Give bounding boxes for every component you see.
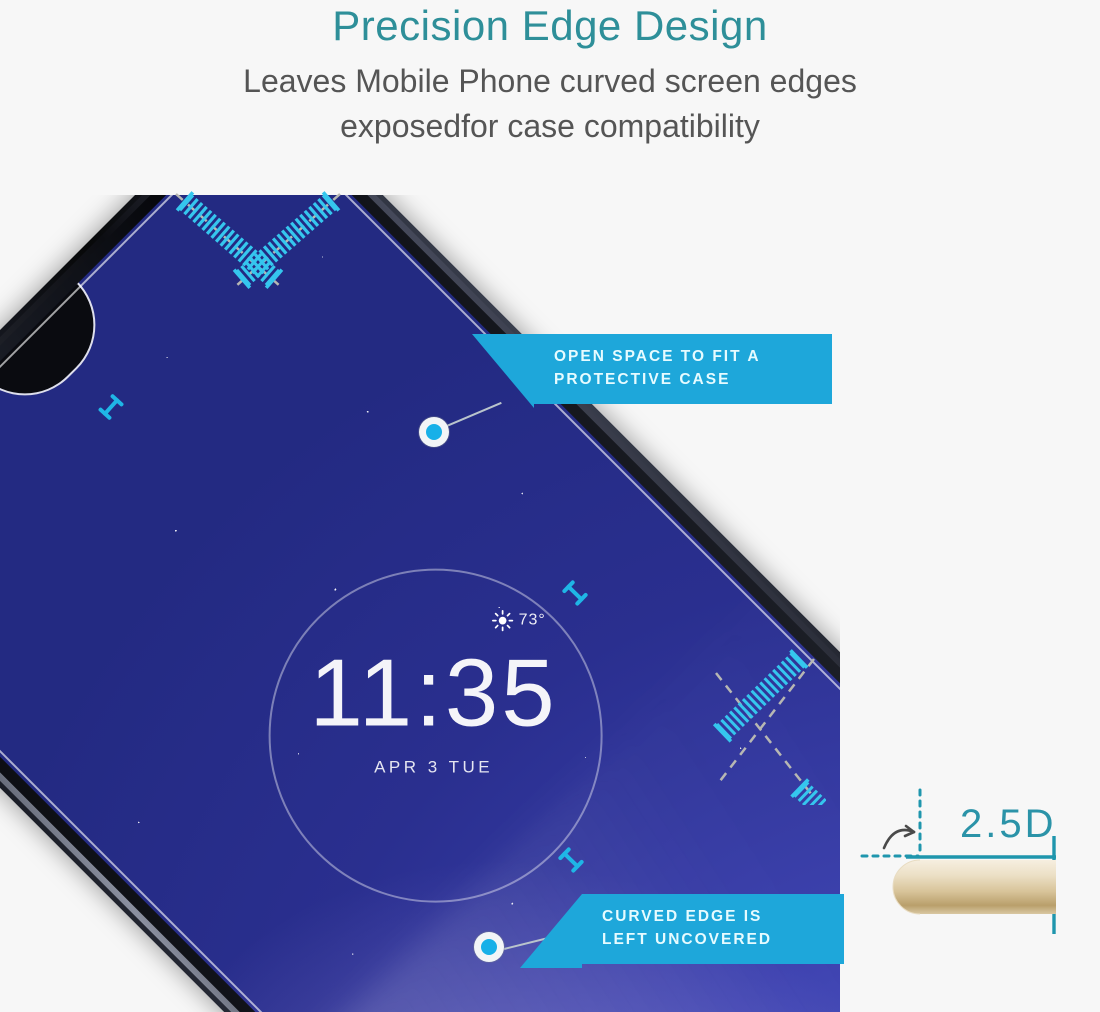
glass-profile-shape bbox=[893, 860, 1056, 914]
crop-mark-x-right bbox=[706, 645, 826, 805]
callout-curved-edge-line-2: LEFT UNCOVERED bbox=[602, 929, 828, 952]
callout-open-space-banner: OPEN SPACE TO FIT A PROTECTIVE CASE bbox=[534, 334, 832, 404]
crop-mark-x-top bbox=[168, 182, 348, 292]
edge-tick-upper-right bbox=[560, 578, 590, 613]
callout-curved-edge-line-1: CURVED EDGE IS bbox=[602, 906, 828, 929]
callout-marker-open-space[interactable] bbox=[419, 417, 449, 447]
callout-curved-edge-pointer bbox=[520, 894, 582, 968]
edge-tick-lower-right bbox=[556, 845, 586, 880]
edge-tick-left bbox=[96, 392, 126, 427]
callout-open-space[interactable]: OPEN SPACE TO FIT A PROTECTIVE CASE bbox=[534, 334, 832, 404]
edge-profile-label: 2.5D bbox=[960, 804, 1057, 844]
lockscreen-weather: 73° bbox=[492, 610, 546, 632]
edge-profile-diagram: 2.5D bbox=[860, 780, 1092, 960]
phone-illustration: 11:35 APR 3 TUE bbox=[0, 195, 840, 1012]
phone-body: 11:35 APR 3 TUE bbox=[0, 195, 840, 1012]
callout-curved-edge[interactable]: CURVED EDGE IS LEFT UNCOVERED bbox=[582, 894, 844, 964]
subtitle-line-1: Leaves Mobile Phone curved screen edges bbox=[0, 59, 1100, 104]
callout-open-space-line-2: PROTECTIVE CASE bbox=[554, 369, 816, 392]
sun-icon bbox=[492, 610, 514, 632]
lockscreen-time: 11:35 bbox=[244, 646, 624, 742]
page-title: Precision Edge Design bbox=[0, 0, 1100, 49]
callout-marker-curved-edge[interactable] bbox=[474, 932, 504, 962]
subtitle-line-2: exposedfor case compatibility bbox=[0, 104, 1100, 149]
curved-arrow-icon bbox=[884, 826, 914, 848]
page-subtitle: Leaves Mobile Phone curved screen edges … bbox=[0, 49, 1100, 150]
lockscreen-temperature: 73° bbox=[519, 612, 546, 630]
callout-curved-edge-banner: CURVED EDGE IS LEFT UNCOVERED bbox=[582, 894, 844, 964]
lockscreen-date: APR 3 TUE bbox=[244, 758, 624, 778]
callout-open-space-line-1: OPEN SPACE TO FIT A bbox=[554, 346, 816, 369]
product-feature-infographic: Precision Edge Design Leaves Mobile Phon… bbox=[0, 0, 1100, 1012]
callout-open-space-pointer bbox=[472, 334, 534, 408]
header: Precision Edge Design Leaves Mobile Phon… bbox=[0, 0, 1100, 150]
